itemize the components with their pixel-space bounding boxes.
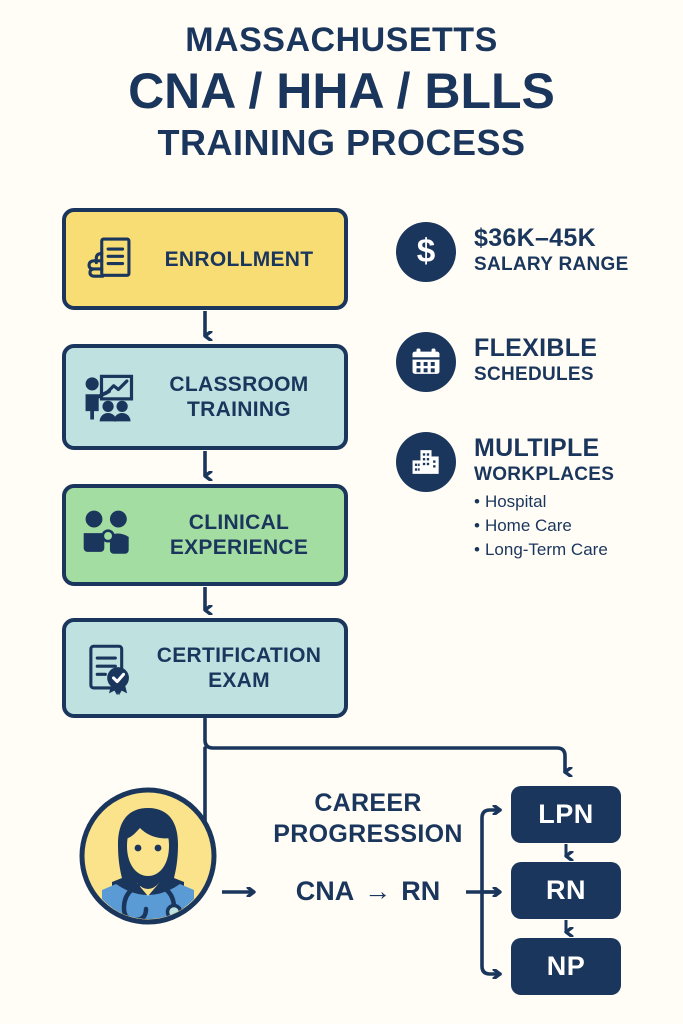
list-item-label: Hospital [485, 492, 546, 511]
flow-step-clinical-experience[interactable]: CLINICAL EXPERIENCE [62, 484, 348, 586]
role-box-lpn[interactable]: LPN [511, 786, 621, 843]
info-subline: SCHEDULES [474, 362, 597, 387]
bullet-dot-icon: • [474, 492, 480, 511]
title-line-subject: TRAINING PROCESS [0, 120, 683, 166]
svg-text:$: $ [417, 233, 436, 270]
career-progression-title: CAREER PROGRESSION [258, 788, 478, 850]
certificate-check-icon [78, 637, 140, 699]
page-title: MASSACHUSETTS CNA / HHA / BLLS TRAINING … [0, 18, 683, 166]
career-path-row: CNA → RN [258, 876, 478, 907]
arrow-right-icon: → [364, 876, 391, 907]
flow-step-certification-exam[interactable]: CERTIFICATION EXAM [62, 618, 348, 718]
infographic-canvas: MASSACHUSETTS CNA / HHA / BLLS TRAINING … [0, 0, 683, 1024]
info-text-block: $36K–45K SALARY RANGE [474, 222, 629, 282]
list-item: •Hospital [474, 490, 614, 514]
info-item-flexible-schedules: FLEXIBLE SCHEDULES [396, 332, 597, 392]
caregiver-patient-icon [78, 504, 140, 566]
career-title-line2: PROGRESSION [258, 819, 478, 850]
list-item-label: Long-Term Care [485, 540, 608, 559]
flow-step-label: CLASSROOM TRAINING [140, 372, 336, 422]
role-label: RN [546, 875, 586, 906]
info-headline: $36K–45K [474, 224, 629, 252]
instructor-whiteboard-icon [78, 366, 140, 428]
workplace-bullet-list: •Hospital •Home Care •Long-Term Care [474, 490, 614, 562]
info-text-block: FLEXIBLE SCHEDULES [474, 332, 597, 392]
role-label: LPN [538, 799, 594, 830]
flow-step-label: CERTIFICATION EXAM [140, 643, 336, 693]
career-path-end: RN [401, 876, 440, 907]
career-title-line1: CAREER [258, 788, 478, 819]
career-path-start: CNA [296, 876, 355, 907]
flow-step-enrollment[interactable]: ENROLLMENT [62, 208, 348, 310]
nurse-avatar-icon [78, 786, 218, 926]
buildings-icon [396, 432, 456, 492]
title-line-certifications: CNA / HHA / BLLS [0, 62, 683, 120]
list-item-label: Home Care [485, 516, 572, 535]
bullet-dot-icon: • [474, 540, 480, 559]
info-headline: MULTIPLE [474, 434, 614, 462]
info-subline: WORKPLACES [474, 462, 614, 487]
info-headline: FLEXIBLE [474, 334, 597, 362]
bullet-dot-icon: • [474, 516, 480, 535]
info-item-salary: $ $36K–45K SALARY RANGE [396, 222, 629, 282]
flow-step-label: CLINICAL EXPERIENCE [140, 510, 336, 560]
document-hand-icon [78, 228, 140, 290]
flow-step-label: ENROLLMENT [140, 247, 336, 272]
list-item: •Home Care [474, 514, 614, 538]
flow-step-classroom-training[interactable]: CLASSROOM TRAINING [62, 344, 348, 450]
list-item: •Long-Term Care [474, 538, 614, 562]
role-box-rn[interactable]: RN [511, 862, 621, 919]
dollar-sign-icon: $ [396, 222, 456, 282]
title-line-state: MASSACHUSETTS [0, 18, 683, 62]
info-subline: SALARY RANGE [474, 252, 629, 277]
role-label: NP [547, 951, 586, 982]
role-box-np[interactable]: NP [511, 938, 621, 995]
info-item-multiple-workplaces: MULTIPLE WORKPLACES •Hospital •Home Care… [396, 432, 614, 562]
info-text-block: MULTIPLE WORKPLACES •Hospital •Home Care… [474, 432, 614, 562]
calendar-icon [396, 332, 456, 392]
